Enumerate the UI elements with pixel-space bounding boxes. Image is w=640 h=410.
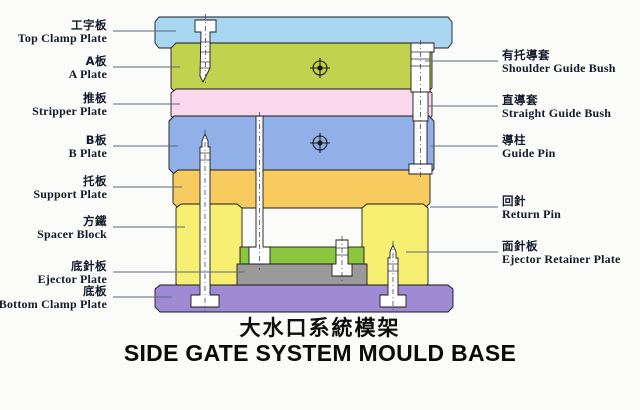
label-cn: 有托導套 [502, 49, 616, 62]
label-b-plate: B板 B Plate [69, 134, 107, 160]
label-en: Support Plate [33, 188, 107, 201]
title-chinese: 大水口系統模架 [0, 316, 640, 340]
label-ejector-retainer-plate: 面針板 Ejector Retainer Plate [502, 240, 621, 266]
label-support-plate: 托板 Support Plate [33, 175, 107, 201]
label-en: Shoulder Guide Bush [502, 62, 616, 75]
label-bottom-clamp-plate: 底板 Bottom Clamp Plate [0, 285, 107, 311]
support-plate [173, 170, 430, 208]
label-cn: 推板 [32, 92, 107, 105]
label-en: Top Clamp Plate [18, 32, 107, 45]
label-cn: 面針板 [502, 240, 621, 253]
label-straight-guide-bush: 直導套 Straight Guide Bush [502, 94, 611, 120]
label-ejector-plate: 底針板 Ejector Plate [38, 260, 107, 286]
label-en: B Plate [69, 147, 107, 160]
label-shoulder-guide-bush: 有托導套 Shoulder Guide Bush [502, 49, 616, 75]
label-cn: 回針 [502, 195, 561, 208]
label-cn: 直導套 [502, 94, 611, 107]
label-cn: 底針板 [38, 260, 107, 273]
label-spacer-block: 方鐵 Spacer Block [37, 215, 107, 241]
label-cn: 底板 [0, 285, 107, 298]
label-cn: 工字板 [18, 19, 107, 32]
label-top-clamp-plate: 工字板 Top Clamp Plate [18, 19, 107, 45]
label-stripper-plate: 推板 Stripper Plate [32, 92, 107, 118]
label-en: Guide Pin [502, 147, 555, 160]
label-en: Spacer Block [37, 228, 107, 241]
diagram-title: 大水口系統模架 SIDE GATE SYSTEM MOULD BASE [0, 316, 640, 366]
label-en: Straight Guide Bush [502, 107, 611, 120]
label-guide-pin: 導柱 Guide Pin [502, 134, 555, 160]
label-en: Ejector Retainer Plate [502, 253, 621, 266]
label-a-plate: A板 A Plate [69, 55, 107, 81]
title-english: SIDE GATE SYSTEM MOULD BASE [0, 340, 640, 366]
label-cn: B板 [69, 134, 107, 147]
label-return-pin: 回針 Return Pin [502, 195, 561, 221]
label-cn: 托板 [33, 175, 107, 188]
label-cn: A板 [69, 55, 107, 68]
label-en: A Plate [69, 68, 107, 81]
label-cn: 方鐵 [37, 215, 107, 228]
label-en: Stripper Plate [32, 105, 107, 118]
label-en: Bottom Clamp Plate [0, 298, 107, 311]
mould-base-diagram: .ol { stroke:#1a1a1a; stroke-width:0.9; … [0, 0, 640, 410]
label-cn: 導柱 [502, 134, 555, 147]
label-en: Return Pin [502, 208, 561, 221]
